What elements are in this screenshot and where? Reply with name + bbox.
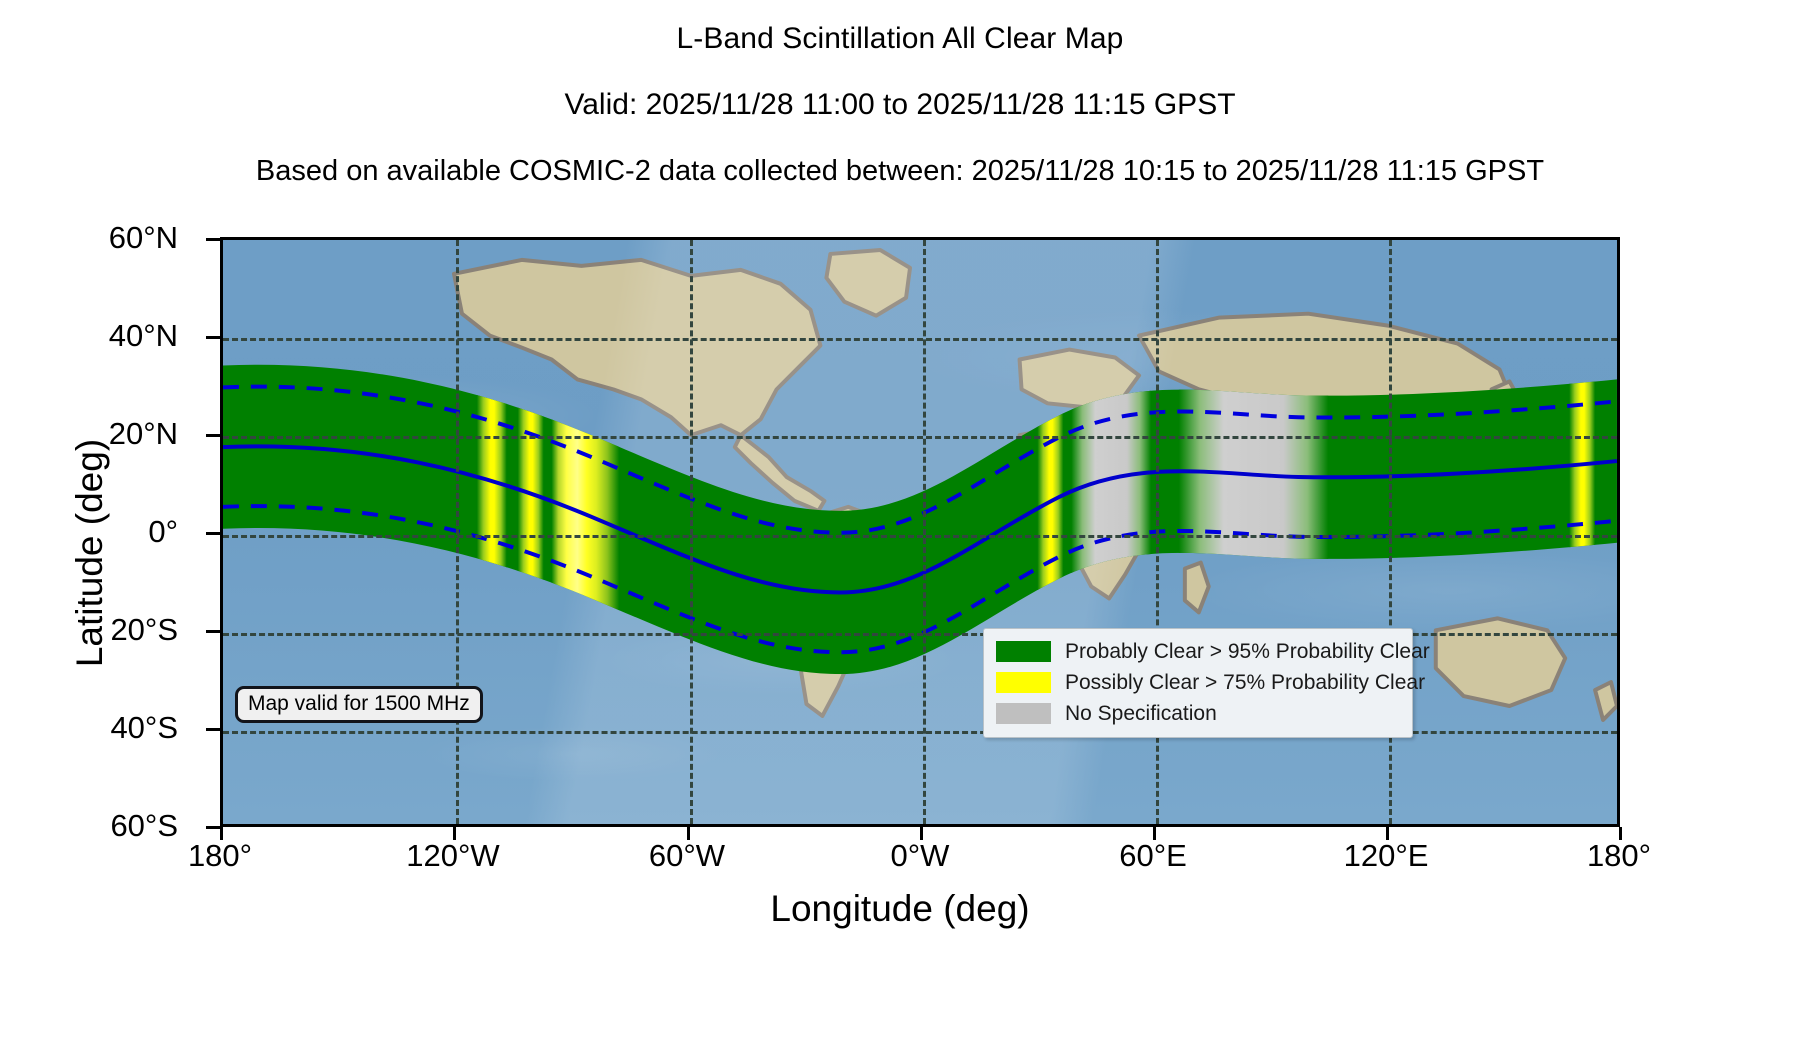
figure-valid-period: Valid: 2025/11/28 11:00 to 2025/11/28 11… [0,88,1800,122]
ytick-mark-40S [206,728,221,731]
legend-item-no-specification: No Specification [996,698,1402,729]
ytick-label-20N: 20°N [18,416,178,452]
ytick-mark-0 [206,532,221,535]
ytick-mark-60N [206,238,221,241]
xtick-label-180W: 180° [120,838,320,874]
ytick-mark-20S [206,630,221,633]
ytick-label-60N: 60°N [18,220,178,256]
legend-item-possibly-clear: Possibly Clear > 75% Probability Clear [996,667,1402,698]
ytick-label-0: 0° [18,514,178,550]
map-plot-area: Probably Clear > 95% Probability Clear P… [220,237,1620,827]
figure-title: L-Band Scintillation All Clear Map [0,22,1800,56]
xtick-label-180E: 180° [1519,838,1719,874]
legend-label-probably-clear: Probably Clear > 95% Probability Clear [1065,640,1430,664]
ytick-label-20S: 20°S [18,612,178,648]
legend-label-no-specification: No Specification [1065,702,1217,726]
legend-item-probably-clear: Probably Clear > 95% Probability Clear [996,636,1402,667]
legend-swatch-no-specification [996,703,1051,724]
ytick-label-40N: 40°N [18,318,178,354]
ytick-mark-20N [206,434,221,437]
x-axis-label: Longitude (deg) [0,888,1800,930]
legend-swatch-possibly-clear [996,672,1051,693]
map-validity-note: Map valid for 1500 MHz [235,686,483,723]
xtick-label-0: 0°W [820,838,1020,874]
ytick-mark-60S [206,826,221,829]
xtick-label-60E: 60°E [1053,838,1253,874]
map-legend: Probably Clear > 95% Probability Clear P… [983,628,1413,738]
legend-label-possibly-clear: Possibly Clear > 75% Probability Clear [1065,671,1425,695]
xtick-label-120E: 120°E [1286,838,1486,874]
xtick-label-60W: 60°W [587,838,787,874]
legend-swatch-probably-clear [996,641,1051,662]
xtick-label-120W: 120°W [353,838,553,874]
ytick-label-40S: 40°S [18,710,178,746]
ytick-mark-40N [206,336,221,339]
figure-data-source-note: Based on available COSMIC-2 data collect… [0,155,1800,188]
